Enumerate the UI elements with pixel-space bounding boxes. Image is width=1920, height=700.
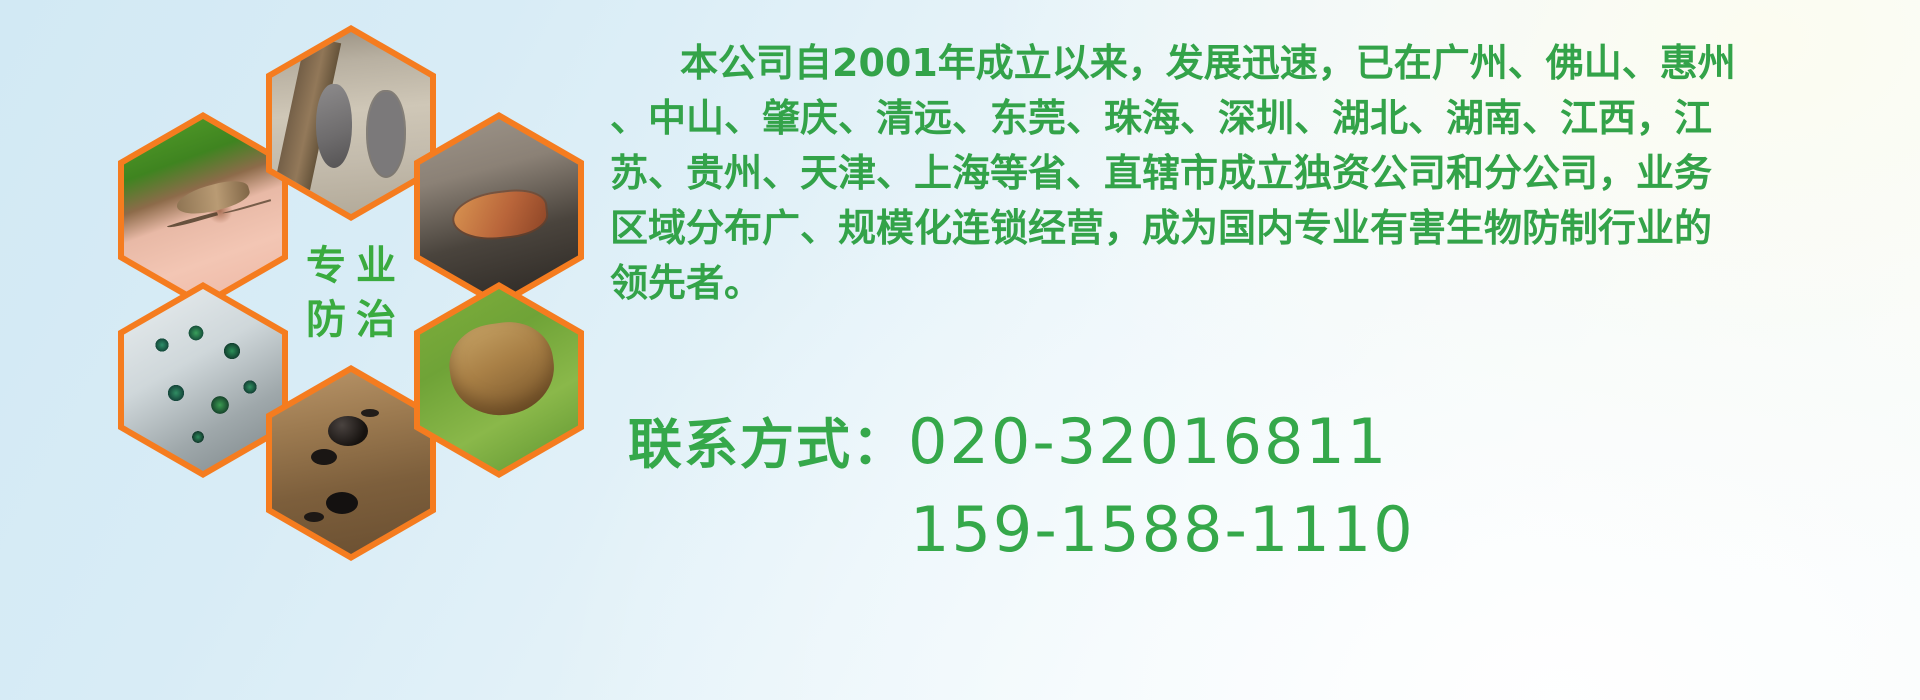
description-line-5: 领先者。 bbox=[610, 256, 1912, 311]
hexagon-image-rats bbox=[272, 32, 430, 214]
mosquito-photo bbox=[124, 119, 282, 301]
description-line-2: 、中山、肇庆、清远、东莞、珠海、深圳、湖北、湖南、江西，江 bbox=[610, 91, 1912, 146]
slogan-text-block: 专业 防治 bbox=[272, 202, 430, 384]
rats-photo bbox=[272, 32, 430, 214]
hexagon-collage: 专业 防治 bbox=[78, 0, 598, 572]
hexagon-image-stink-bug bbox=[420, 289, 578, 471]
description-line-1: 本公司自2001年成立以来，发展迅速，已在广州、佛山、惠州 bbox=[610, 36, 1912, 91]
hexagon-tile-flies[interactable] bbox=[118, 282, 288, 478]
hexagon-image-cockroach bbox=[420, 119, 578, 301]
pest-control-banner: 专业 防治 本公司自2001年成立以来，发展迅速，已在广州、佛山、惠州 、中山、… bbox=[0, 0, 1920, 700]
hexagon-slogan-inner: 专业 防治 bbox=[272, 202, 430, 384]
cockroach-photo bbox=[420, 119, 578, 301]
hexagon-tile-stink-bug[interactable] bbox=[414, 282, 584, 478]
description-line-3: 苏、贵州、天津、上海等省、直辖市成立独资公司和分公司，业务 bbox=[610, 146, 1912, 201]
contact-block: 联系方式： 020-32016811 159-1588-1110 bbox=[628, 400, 1918, 566]
banner-content: 本公司自2001年成立以来，发展迅速，已在广州、佛山、惠州 、中山、肇庆、清远、… bbox=[600, 0, 1920, 700]
hexagon-tile-rats[interactable] bbox=[266, 25, 436, 221]
hexagon-tile-mosquito[interactable] bbox=[118, 112, 288, 308]
slogan-line-2: 防治 bbox=[296, 300, 406, 340]
slogan-line-1: 专业 bbox=[296, 246, 406, 286]
hexagon-tile-ant[interactable] bbox=[266, 365, 436, 561]
stink-bug-photo bbox=[420, 289, 578, 471]
company-description: 本公司自2001年成立以来，发展迅速，已在广州、佛山、惠州 、中山、肇庆、清远、… bbox=[610, 36, 1912, 311]
phone-secondary[interactable]: 159-1588-1110 bbox=[910, 493, 1415, 566]
description-line-4: 区域分布广、规模化连锁经营，成为国内专业有害生物防制行业的 bbox=[610, 201, 1912, 256]
hexagon-tile-slogan: 专业 防治 bbox=[266, 195, 436, 391]
contact-label: 联系方式： bbox=[628, 400, 908, 479]
flies-photo bbox=[124, 289, 282, 471]
ant-photo bbox=[272, 372, 430, 554]
hexagon-image-flies bbox=[124, 289, 282, 471]
hexagon-image-mosquito bbox=[124, 119, 282, 301]
hexagon-image-ant bbox=[272, 372, 430, 554]
contact-row-primary: 联系方式： 020-32016811 bbox=[628, 400, 1918, 479]
hexagon-tile-cockroach[interactable] bbox=[414, 112, 584, 308]
contact-row-secondary: 159-1588-1110 bbox=[628, 493, 1918, 566]
phone-primary[interactable]: 020-32016811 bbox=[908, 405, 1388, 478]
